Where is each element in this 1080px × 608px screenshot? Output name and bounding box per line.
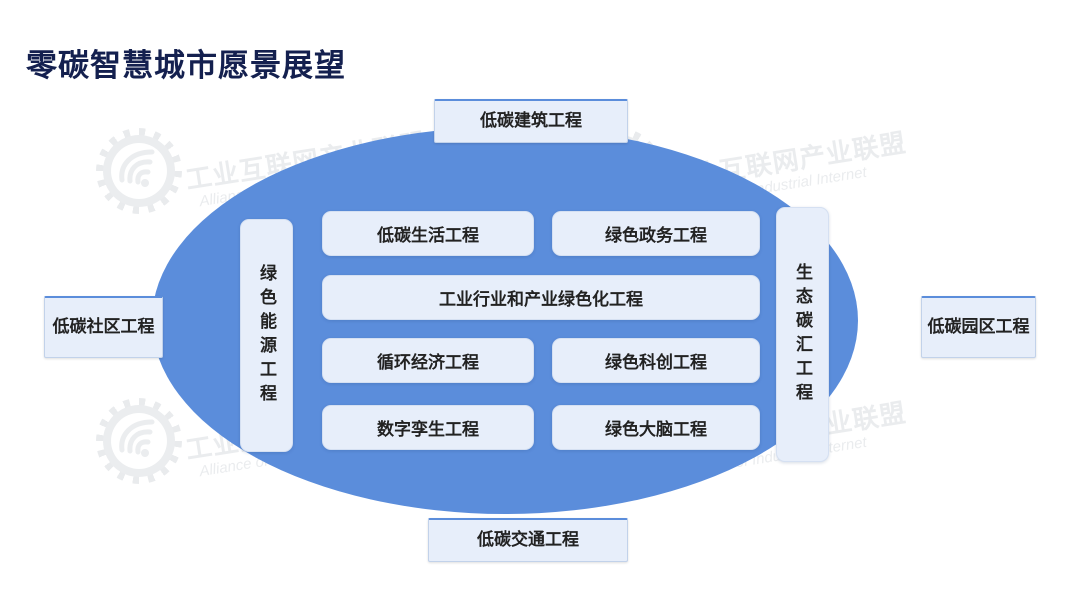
- outer-card-top[interactable]: 低碳建筑工程: [434, 99, 628, 143]
- inner-card-row3-col2[interactable]: 绿色科创工程: [552, 338, 760, 383]
- pillar-right-label: 生态碳汇工程: [790, 263, 815, 407]
- outer-card-right[interactable]: 低碳园区工程: [921, 296, 1036, 358]
- inner-card-row2-wide[interactable]: 工业行业和产业绿色化工程: [322, 275, 760, 320]
- inner-card-row1-col1[interactable]: 低碳生活工程: [322, 211, 534, 256]
- inner-card-row1-col2[interactable]: 绿色政务工程: [552, 211, 760, 256]
- zero-carbon-city-diagram: 低碳建筑工程 低碳交通工程 低碳社区工程 低碳园区工程 绿色能源工程 生态碳汇工…: [0, 0, 1080, 608]
- page-title: 零碳智慧城市愿景展望: [26, 40, 346, 85]
- pillar-left-label: 绿色能源工程: [254, 264, 279, 408]
- pillar-card-right[interactable]: 生态碳汇工程: [776, 207, 829, 462]
- outer-card-left[interactable]: 低碳社区工程: [44, 296, 163, 358]
- inner-card-row4-col1[interactable]: 数字孪生工程: [322, 405, 534, 450]
- inner-card-row3-col1[interactable]: 循环经济工程: [322, 338, 534, 383]
- outer-card-bottom[interactable]: 低碳交通工程: [428, 518, 628, 562]
- inner-card-row4-col2[interactable]: 绿色大脑工程: [552, 405, 760, 450]
- pillar-card-left[interactable]: 绿色能源工程: [240, 219, 293, 452]
